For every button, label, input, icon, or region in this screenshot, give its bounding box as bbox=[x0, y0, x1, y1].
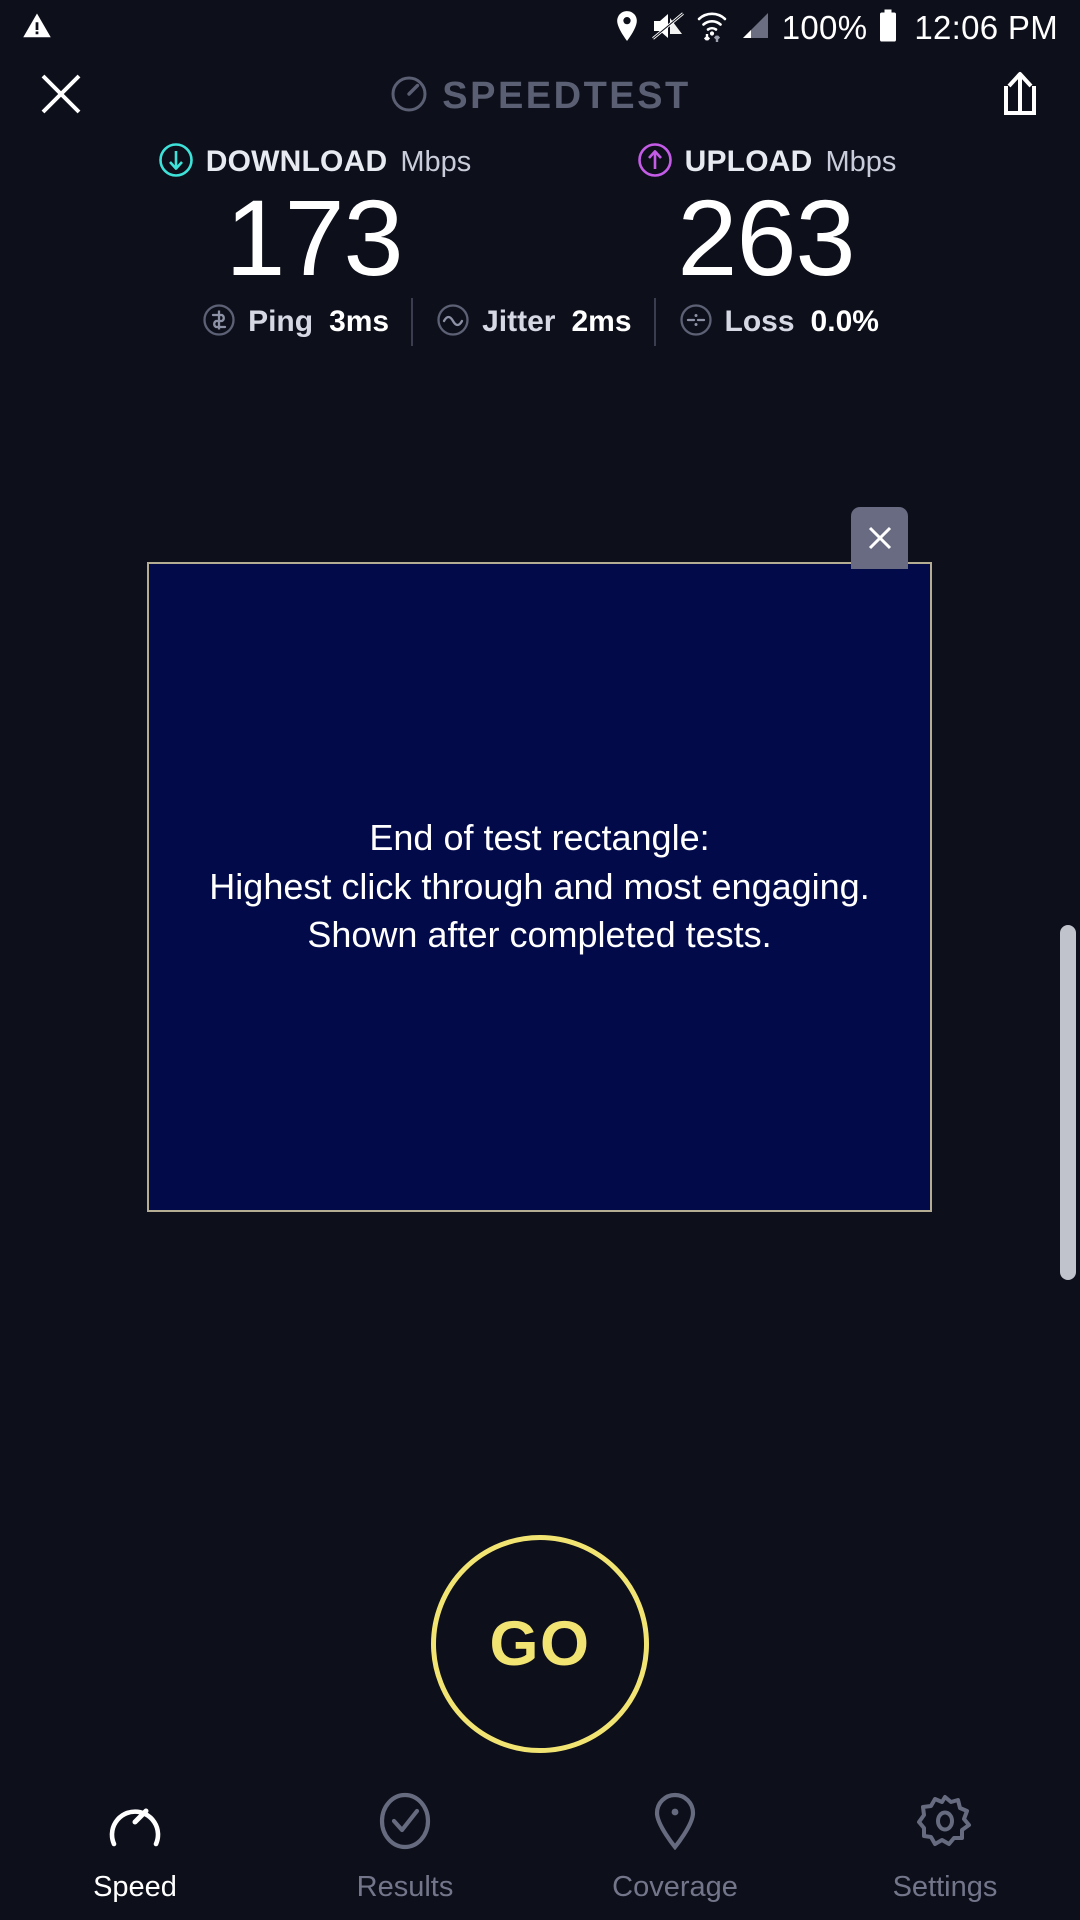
gear-icon bbox=[915, 1792, 975, 1855]
speedometer-icon bbox=[389, 74, 429, 119]
app-title: SPEEDTEST bbox=[0, 74, 1080, 119]
status-bar-right: 100% 12:06 PM bbox=[614, 9, 1058, 48]
jitter-label: Jitter bbox=[482, 305, 555, 339]
nav-label-coverage: Coverage bbox=[612, 1871, 738, 1904]
upload-value: 263 bbox=[576, 180, 956, 297]
cell-signal-icon bbox=[739, 11, 771, 46]
advertisement-banner[interactable]: End of test rectangle: Highest click thr… bbox=[147, 562, 932, 1212]
warning-triangle-icon bbox=[22, 11, 52, 46]
check-circle-icon bbox=[375, 1792, 435, 1855]
nav-label-settings: Settings bbox=[893, 1871, 998, 1904]
loss-icon bbox=[678, 302, 714, 343]
volume-muted-icon bbox=[651, 10, 685, 47]
nav-item-speed[interactable]: Speed bbox=[10, 1792, 260, 1904]
nav-label-speed: Speed bbox=[93, 1871, 177, 1904]
nav-label-results: Results bbox=[357, 1871, 454, 1904]
battery-percent-label: 100% bbox=[782, 9, 868, 47]
battery-full-icon bbox=[878, 9, 898, 48]
app-title-label: SPEEDTEST bbox=[442, 75, 690, 118]
download-metric: DOWNLOAD Mbps 173 bbox=[124, 140, 504, 297]
results-summary: DOWNLOAD Mbps 173 UPLOAD Mbps bbox=[0, 140, 1080, 297]
go-button-label: GO bbox=[489, 1608, 590, 1680]
loss-label: Loss bbox=[725, 305, 795, 339]
clock-label: 12:06 PM bbox=[914, 9, 1058, 47]
loss-value: 0.0% bbox=[811, 305, 879, 339]
jitter-stat: Jitter 2ms bbox=[413, 302, 653, 343]
share-icon[interactable] bbox=[998, 69, 1042, 124]
advertisement-container: End of test rectangle: Highest click thr… bbox=[147, 562, 932, 1212]
status-bar-left bbox=[22, 11, 52, 46]
nav-item-settings[interactable]: Settings bbox=[820, 1792, 1070, 1904]
upload-metric: UPLOAD Mbps 263 bbox=[576, 140, 956, 297]
page-scrollbar[interactable] bbox=[1060, 925, 1076, 1280]
speedometer-icon bbox=[105, 1792, 165, 1855]
loss-stat: Loss 0.0% bbox=[656, 302, 901, 343]
status-bar: 100% 12:06 PM bbox=[0, 0, 1080, 56]
ad-line-3: Shown after completed tests. bbox=[209, 911, 869, 960]
ad-line-2: Highest click through and most engaging. bbox=[209, 863, 869, 912]
speedtest-app-screen: 100% 12:06 PM SPE bbox=[0, 0, 1080, 1920]
jitter-value: 2ms bbox=[571, 305, 631, 339]
ping-label: Ping bbox=[248, 305, 313, 339]
ping-stat: Ping 3ms bbox=[179, 302, 411, 343]
upload-arrow-icon bbox=[636, 141, 674, 184]
ping-icon bbox=[201, 302, 237, 343]
nav-item-coverage[interactable]: Coverage bbox=[550, 1792, 800, 1904]
ad-line-1: End of test rectangle: bbox=[209, 814, 869, 863]
map-pin-icon bbox=[645, 1792, 705, 1855]
location-pin-icon bbox=[614, 10, 640, 47]
upload-label: UPLOAD bbox=[685, 145, 813, 179]
ad-close-icon[interactable] bbox=[851, 507, 908, 569]
app-header: SPEEDTEST bbox=[0, 56, 1080, 136]
bottom-navigation-bar: Speed Results Coverage bbox=[0, 1780, 1080, 1920]
go-button[interactable]: GO bbox=[431, 1535, 649, 1753]
download-arrow-icon bbox=[157, 141, 195, 184]
close-icon[interactable] bbox=[38, 71, 84, 122]
download-upload-row: DOWNLOAD Mbps 173 UPLOAD Mbps bbox=[0, 140, 1080, 297]
jitter-icon bbox=[435, 302, 471, 343]
ad-text-block: End of test rectangle: Highest click thr… bbox=[195, 814, 883, 961]
wifi-icon bbox=[696, 9, 728, 48]
connection-stats-row: Ping 3ms Jitter 2ms bbox=[0, 298, 1080, 346]
ping-value: 3ms bbox=[329, 305, 389, 339]
download-value: 173 bbox=[124, 180, 504, 297]
download-unit: Mbps bbox=[400, 146, 471, 179]
download-label: DOWNLOAD bbox=[206, 145, 388, 179]
nav-item-results[interactable]: Results bbox=[280, 1792, 530, 1904]
upload-unit: Mbps bbox=[825, 146, 896, 179]
